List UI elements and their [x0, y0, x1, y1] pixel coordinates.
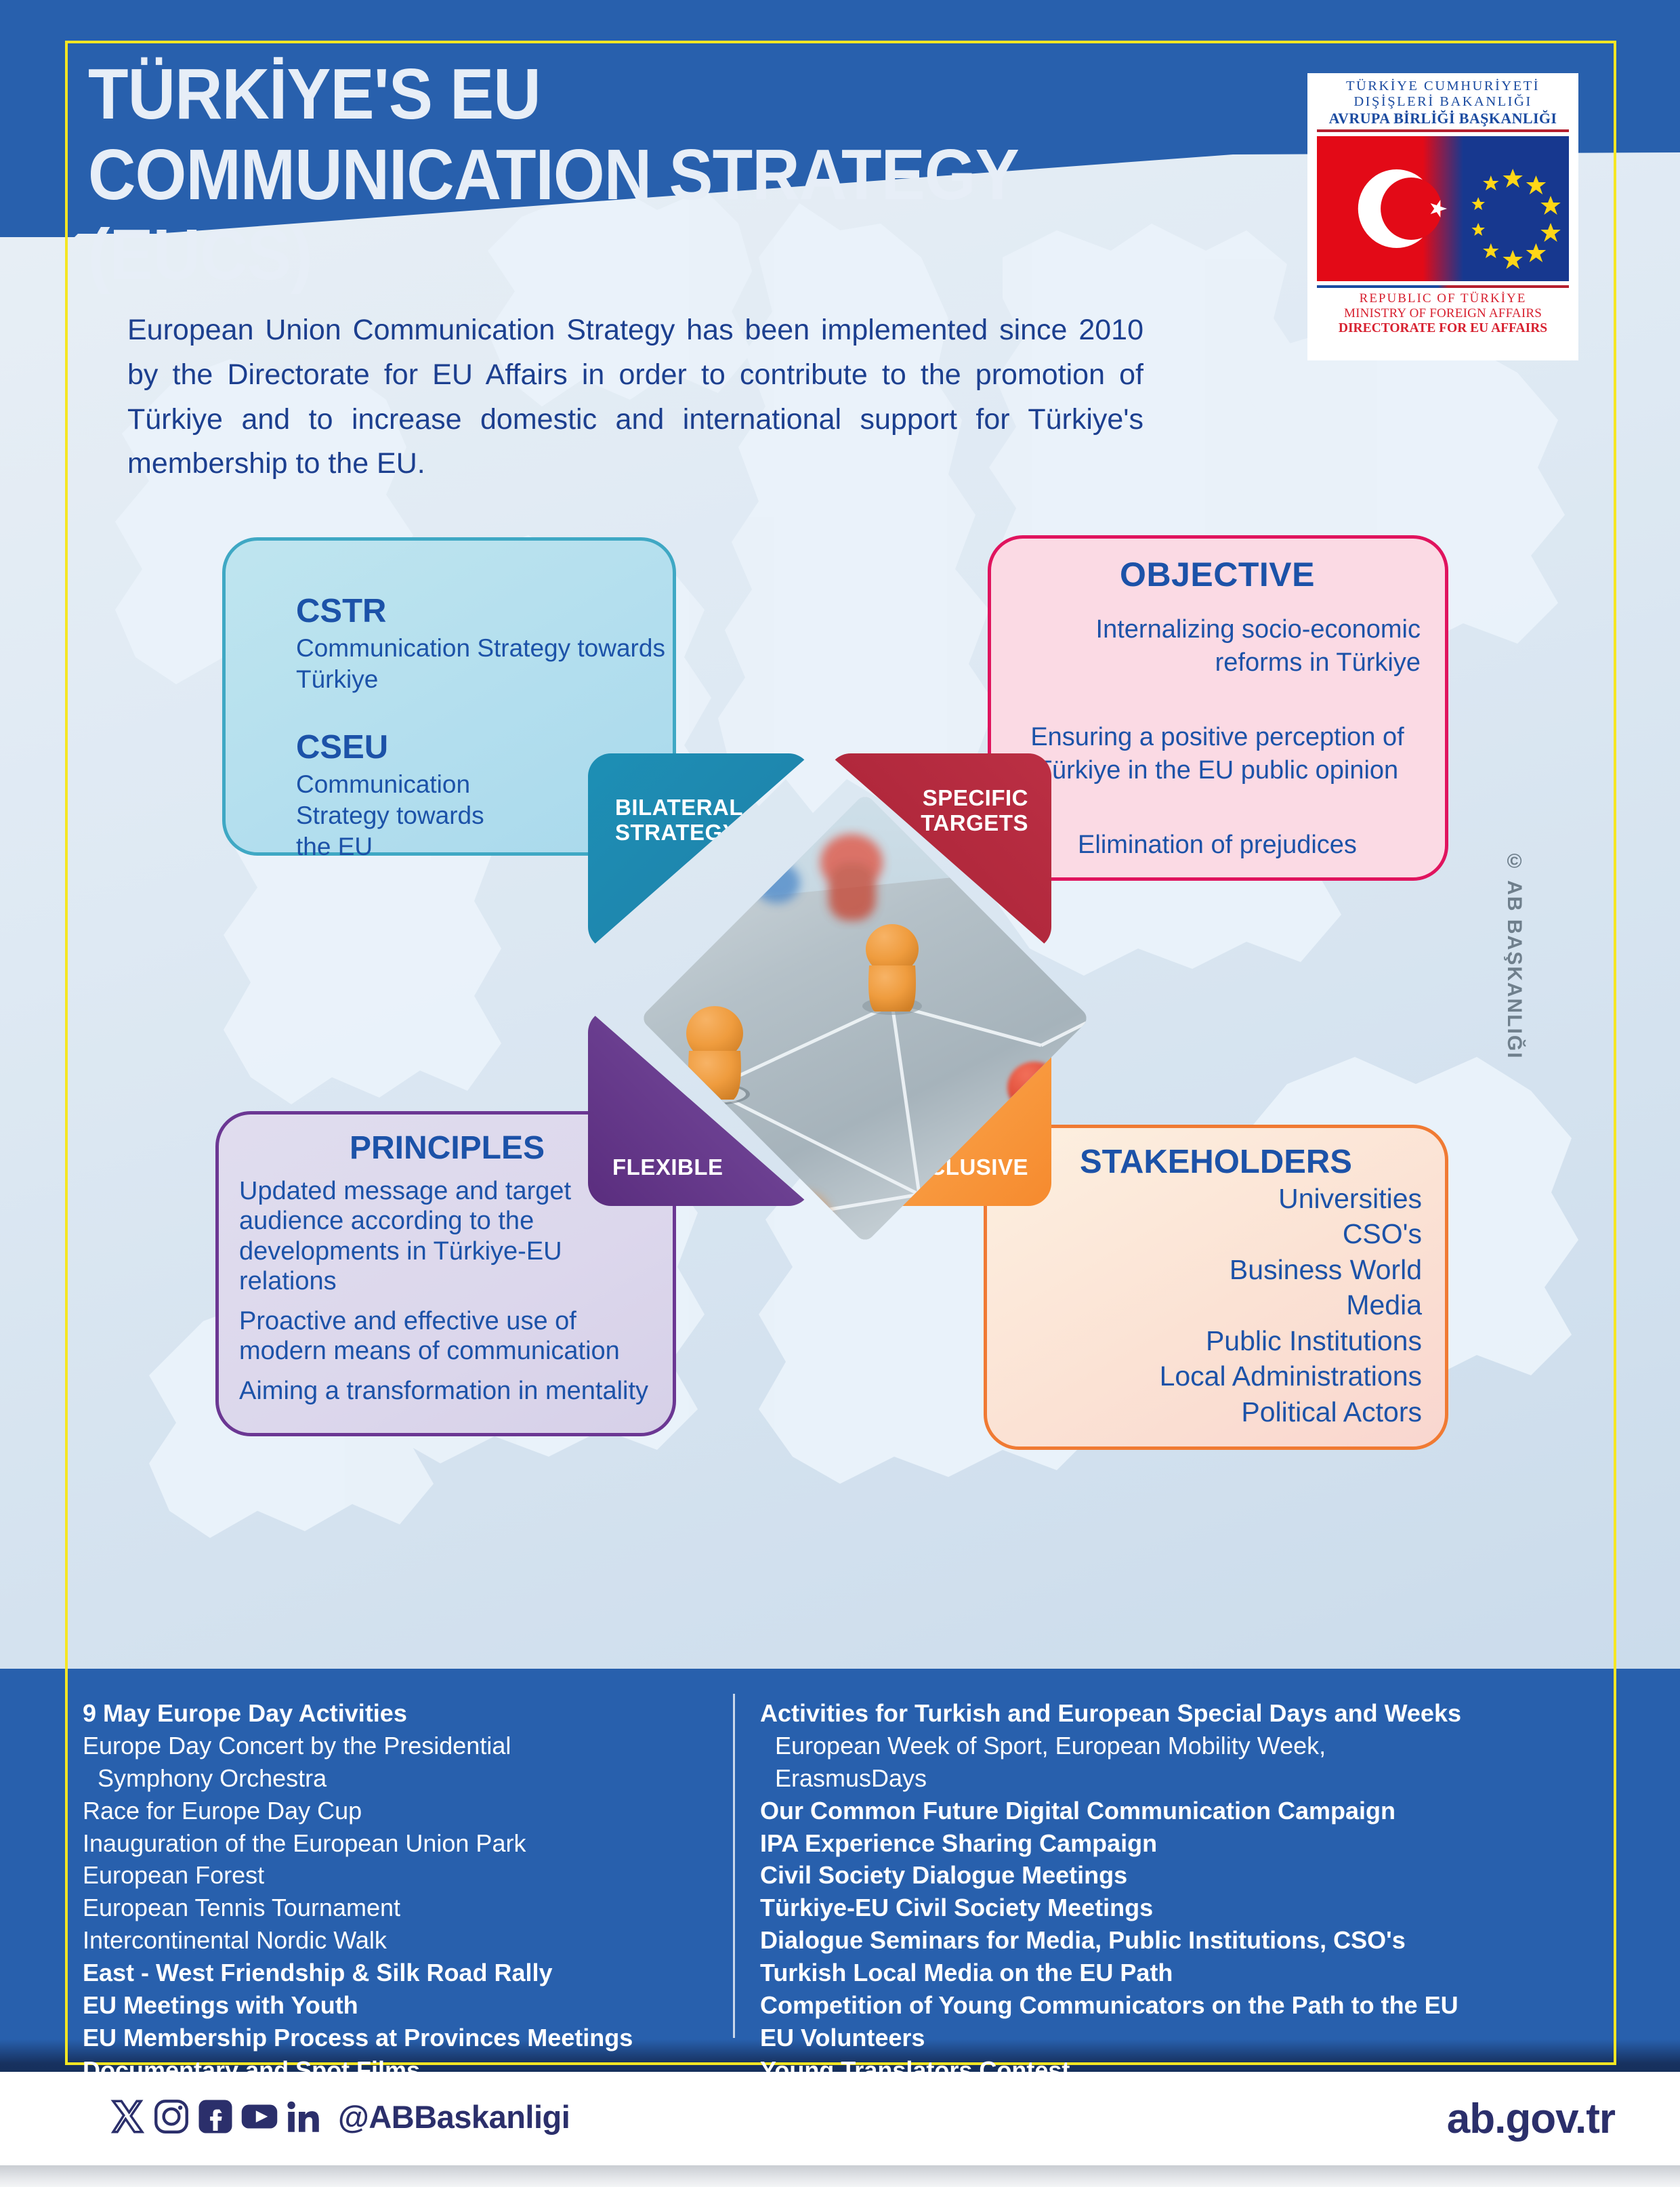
stakeholders-item-5: Public Institutions [1010, 1323, 1422, 1358]
activities-column-divider [733, 1694, 735, 2038]
intro-paragraph: European Union Communication Strategy ha… [127, 308, 1143, 486]
stakeholders-item-1: Universities [1010, 1181, 1422, 1216]
x-twitter-icon[interactable] [108, 2098, 146, 2136]
activity-item-right-6: Türkiye-EU Civil Society Meetings [760, 1892, 1607, 1924]
activities-left-list: Europe Day Concert by the PresidentialSy… [83, 1730, 713, 2087]
social-links: @ABBaskanligi [108, 2098, 570, 2136]
activity-item-right-1: European Week of Sport, European Mobilit… [760, 1730, 1607, 1762]
objective-card: OBJECTIVE Internalizing socio-economic r… [988, 535, 1448, 881]
footer-shadow [0, 2165, 1680, 2187]
activity-item-left-1: Europe Day Concert by the Presidential [83, 1730, 713, 1762]
stakeholders-item-4: Media [1010, 1287, 1422, 1322]
logo-line-en-2: MINISTRY OF FOREIGN AFFAIRS [1344, 306, 1542, 321]
logo-line-tr-2: DIŞİŞLERİ BAKANLIĞI [1353, 94, 1532, 110]
social-handle[interactable]: @ABBaskanligi [338, 2098, 570, 2136]
cstr-block: CSTR Communication Strategy towards Türk… [296, 595, 673, 696]
cstr-abbr: CSTR [296, 595, 673, 628]
logo-line-en-1: REPUBLIC OF TÜRKİYE [1360, 291, 1527, 306]
objective-item-3: Elimination of prejudices [1014, 829, 1421, 862]
cseu-description: Communication Strategy towards the EU [296, 769, 520, 863]
logo-divider-bottom [1317, 285, 1569, 288]
activities-right-list: European Week of Sport, European Mobilit… [760, 1730, 1607, 2087]
activity-item-left-6: European Tennis Tournament [83, 1892, 713, 1924]
turkish-eu-flag-icon [1317, 136, 1569, 281]
objective-item-2: Ensuring a positive perception of Türkiy… [1014, 721, 1421, 788]
activity-item-right-2: ErasmusDays [760, 1762, 1607, 1795]
activity-item-left-5: European Forest [83, 1859, 713, 1892]
activity-item-right-9: Competition of Young Communicators on th… [760, 1989, 1607, 2022]
stakeholders-card: STAKEHOLDERS Universities CSO's Business… [984, 1125, 1448, 1450]
ministry-logo: TÜRKİYE CUMHURİYETİ DIŞİŞLERİ BAKANLIĞI … [1307, 73, 1578, 360]
objective-title: OBJECTIVE [1014, 555, 1421, 594]
stakeholders-item-2: CSO's [1010, 1216, 1422, 1251]
activity-item-right-10: EU Volunteers [760, 2022, 1607, 2054]
copyright-notice: © AB BAŞKANLIĞI [1503, 850, 1526, 1060]
activity-item-left-4: Inauguration of the European Union Park [83, 1827, 713, 1860]
activity-item-right-3: Our Common Future Digital Communication … [760, 1795, 1607, 1827]
objective-item-1: Internalizing socio-economic reforms in … [1014, 613, 1421, 680]
activity-item-left-8: East - West Friendship & Silk Road Rally [83, 1957, 713, 1989]
facebook-icon[interactable] [196, 2098, 234, 2136]
activity-item-left-7: Intercontinental Nordic Walk [83, 1924, 713, 1957]
activity-item-left-2: Symphony Orchestra [83, 1762, 713, 1795]
website-url[interactable]: ab.gov.tr [1447, 2095, 1615, 2143]
logo-line-tr-1: TÜRKİYE CUMHURİYETİ [1346, 79, 1540, 94]
activity-item-right-5: Civil Society Dialogue Meetings [760, 1859, 1607, 1892]
logo-line-tr-3: AVRUPA BİRLİĞİ BAŞKANLIĞI [1329, 110, 1557, 127]
logo-divider-top [1317, 129, 1569, 132]
activity-item-right-4: IPA Experience Sharing Campaign [760, 1827, 1607, 1860]
instagram-icon[interactable] [152, 2098, 190, 2136]
activity-item-right-7: Dialogue Seminars for Media, Public Inst… [760, 1924, 1607, 1957]
activity-item-right-8: Turkish Local Media on the EU Path [760, 1957, 1607, 1989]
logo-line-en-3: DIRECTORATE FOR EU AFFAIRS [1339, 321, 1547, 336]
principles-item-3: Aiming a transformation in mentality [239, 1376, 655, 1406]
activity-item-left-10: EU Membership Process at Provinces Meeti… [83, 2022, 713, 2054]
activities-right-heading: Activities for Turkish and European Spec… [760, 1697, 1607, 1730]
stakeholders-item-7: Political Actors [1010, 1394, 1422, 1430]
stakeholders-title: STAKEHOLDERS [1010, 1143, 1422, 1181]
quadrant-flexible-label: FLEXIBLE [612, 1155, 723, 1180]
stakeholders-item-3: Business World [1010, 1252, 1422, 1287]
youtube-icon[interactable] [240, 2098, 278, 2136]
activities-left-heading: 9 May Europe Day Activities [83, 1697, 713, 1730]
activity-item-left-9: EU Meetings with Youth [83, 1989, 713, 2022]
activities-left-column: 9 May Europe Day Activities Europe Day C… [83, 1697, 713, 2087]
page-title: TÜRKİYE'S EU COMMUNICATION STRATEGY (EUC… [88, 54, 1116, 295]
stakeholders-item-6: Local Administrations [1010, 1358, 1422, 1394]
activities-right-column: Activities for Turkish and European Spec… [760, 1697, 1607, 2087]
linkedin-icon[interactable] [285, 2098, 322, 2136]
cstr-description: Communication Strategy towards Türkiye [296, 633, 673, 696]
principles-item-2: Proactive and effective use of modern me… [239, 1306, 655, 1367]
activity-item-left-3: Race for Europe Day Cup [83, 1795, 713, 1827]
